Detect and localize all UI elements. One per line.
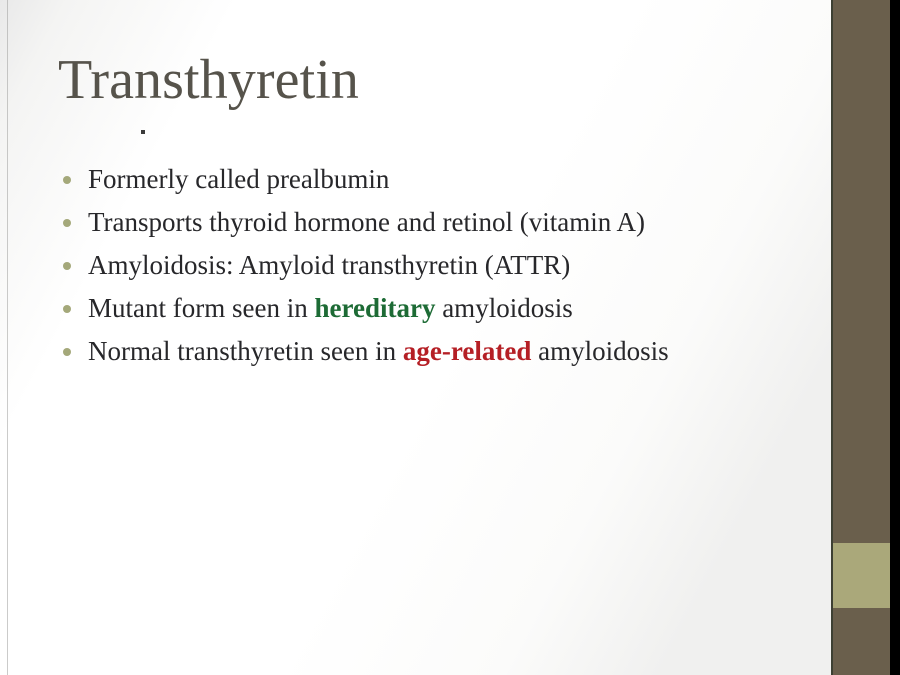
list-item: Normal transthyretin seen in age-related…: [60, 335, 820, 378]
list-item: Mutant form seen in hereditary amyloidos…: [60, 292, 820, 335]
side-band-accent-block: [833, 543, 890, 608]
title-stray-dot-artifact: [141, 130, 145, 134]
list-item: Transports thyroid hormone and retinol (…: [60, 206, 820, 249]
emphasized-text: age-related: [403, 336, 531, 366]
list-item-text: Transports thyroid hormone and retinol (…: [88, 206, 820, 239]
slide-side-band: [831, 0, 890, 675]
bullet-dot-icon: [60, 292, 88, 325]
bullet-list: Formerly called prealbumin Transports th…: [60, 163, 820, 378]
outer-frame-strip: [890, 0, 900, 675]
bullet-dot-icon: [60, 249, 88, 282]
list-item: Amyloidosis: Amyloid transthyretin (ATTR…: [60, 249, 820, 292]
slide-viewer: Transthyretin Formerly called prealbumin…: [0, 0, 900, 675]
bullet-dot-icon: [60, 163, 88, 196]
slide-left-edge-rule: [7, 0, 8, 675]
page-title: Transthyretin: [58, 52, 359, 108]
list-item-text: Normal transthyretin seen in age-related…: [88, 335, 820, 368]
list-item-text: Formerly called prealbumin: [88, 163, 820, 196]
emphasized-text: hereditary: [314, 293, 435, 323]
list-item-text: Mutant form seen in hereditary amyloidos…: [88, 292, 820, 325]
bullet-dot-icon: [60, 335, 88, 368]
list-item: Formerly called prealbumin: [60, 163, 820, 206]
bullet-dot-icon: [60, 206, 88, 239]
list-item-text: Amyloidosis: Amyloid transthyretin (ATTR…: [88, 249, 820, 282]
